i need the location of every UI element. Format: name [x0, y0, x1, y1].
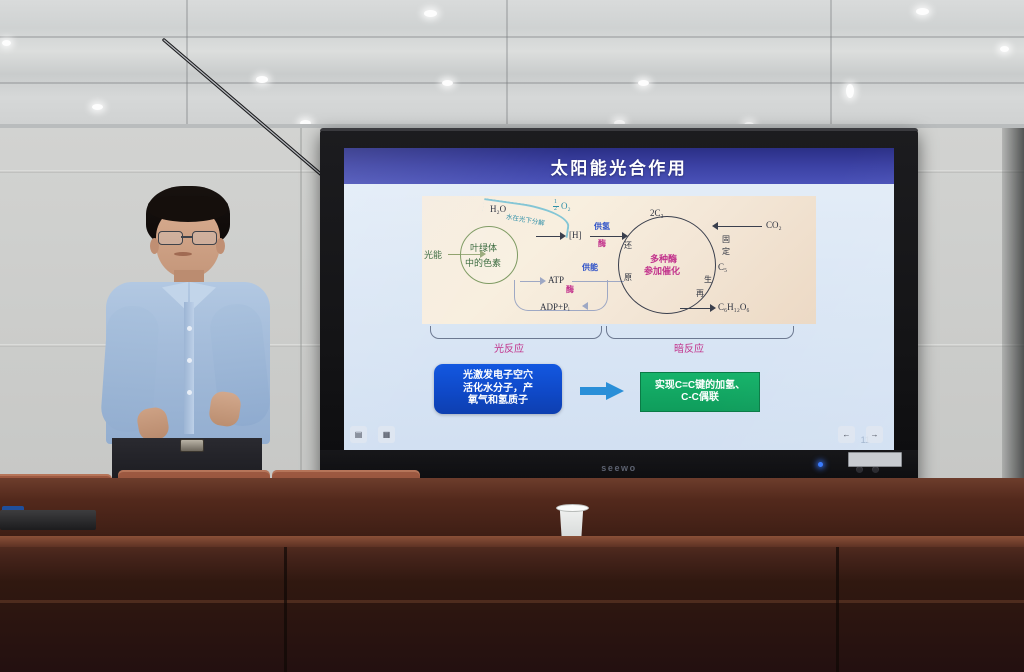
shirt-button	[187, 358, 192, 363]
brace-dark-reaction	[606, 326, 794, 339]
panel-screen[interactable]: 太阳能光合作用 光能 叶绿体 中的色素 H₂O 水在光下分解 1	[344, 148, 894, 450]
ceiling-seam	[0, 82, 1024, 84]
podium-lip	[0, 536, 1024, 547]
callout-blue-line-2: 活化水分子，产	[463, 383, 533, 396]
presenter-hair-front	[148, 196, 228, 222]
paper-cup-rim	[556, 504, 589, 512]
label-co2: CO₂	[766, 220, 782, 230]
downlight	[638, 80, 649, 86]
label-pigment-line2: 中的色素	[465, 256, 501, 269]
label-adp: ADP+Pᵢ	[540, 302, 570, 312]
label-regen-1: 生	[704, 274, 712, 285]
prev-page-button[interactable]: ←	[838, 426, 855, 443]
callout-blue-line-1: 光激发电子空穴	[463, 370, 533, 383]
label-glucose: C₆H₁₂O₆	[718, 302, 750, 312]
callout-green-line-1: 实现C=C键的加氢、	[655, 380, 745, 393]
arrowhead	[560, 232, 566, 240]
arrow-to-h	[536, 236, 562, 237]
glasses-lens	[158, 231, 183, 245]
front-table	[0, 478, 1024, 540]
menu-button[interactable]: ▦	[378, 426, 395, 443]
label-oxygen-frac-num: 1	[554, 199, 557, 205]
arrow-left-icon: ←	[843, 431, 851, 439]
arrowhead	[710, 304, 716, 312]
arrow-right-icon: →	[871, 431, 879, 439]
callout-blue-box: 光激发电子空穴 活化水分子，产 氧气和氢质子	[434, 364, 562, 414]
right-arrow-icon	[580, 382, 624, 400]
control-button[interactable]	[872, 466, 879, 473]
downlight	[916, 8, 929, 15]
source-button[interactable]: ▤	[350, 426, 367, 443]
lecture-room-photo: 太阳能光合作用 光能 叶绿体 中的色素 H₂O 水在光下分解 1	[0, 0, 1024, 672]
podium-panel-seam	[836, 547, 839, 672]
slide: 太阳能光合作用 光能 叶绿体 中的色素 H₂O 水在光下分解 1	[344, 148, 894, 450]
ceiling-seam	[0, 36, 1024, 38]
shirt-placket	[184, 302, 194, 434]
downlight	[846, 84, 854, 98]
label-enzyme-1: 酶	[598, 238, 606, 249]
podium-front	[0, 536, 1024, 672]
downlight	[1000, 46, 1009, 52]
presenter-mouth	[174, 252, 192, 256]
glasses	[158, 231, 218, 244]
wall-panel-seam	[300, 128, 302, 480]
downlight	[256, 76, 268, 83]
wall-shadow-right	[1002, 128, 1024, 480]
control-button[interactable]	[856, 466, 863, 473]
belt-buckle	[180, 439, 204, 452]
label-dark-reaction: 暗反应	[674, 340, 704, 355]
podium-panel-seam	[284, 547, 287, 672]
label-fixation-2: 定	[722, 246, 730, 257]
downlight	[2, 40, 11, 46]
ceiling-seam	[186, 0, 188, 128]
brace-light-reaction	[430, 326, 602, 339]
chloroplast-pigment-circle	[460, 226, 518, 284]
next-page-button[interactable]: →	[866, 426, 883, 443]
power-led	[818, 462, 823, 467]
source-icon: ▤	[355, 431, 363, 439]
label-fixation-1: 固	[722, 234, 730, 245]
presenter	[86, 186, 282, 482]
label-light-reaction: 光反应	[494, 340, 524, 355]
arrow-to-glucose	[680, 308, 712, 309]
callout-green-box: 实现C=C键的加氢、 C-C偶联	[640, 372, 760, 412]
label-reduce-2: 原	[624, 272, 632, 283]
slide-title-bar: 太阳能光合作用	[344, 148, 894, 184]
ceiling-seam	[506, 0, 508, 128]
label-reduce-1: 还	[624, 240, 632, 251]
label-light-energy: 光能	[424, 248, 442, 261]
downlight	[442, 80, 453, 86]
label-pigment-line1: 叶绿体	[470, 241, 497, 254]
label-regen-2: 再	[696, 288, 704, 299]
closed-laptop	[0, 510, 96, 530]
label-supply-hydrogen: 供氢	[594, 221, 610, 232]
label-oxygen-frac-den: 2	[554, 206, 557, 212]
label-supply-energy: 供能	[582, 262, 598, 273]
callout-green-line-2: C-C偶联	[681, 392, 719, 405]
arrow-co2-in	[718, 226, 762, 227]
interactive-flat-panel[interactable]: 太阳能光合作用 光能 叶绿体 中的色素 H₂O 水在光下分解 1	[320, 128, 918, 490]
ceiling-seam	[830, 0, 832, 128]
label-multi-enzyme-2: 参加催化	[644, 264, 680, 277]
podium-groove	[0, 600, 1024, 603]
shirt-button	[187, 326, 192, 331]
downlight	[424, 10, 437, 17]
arrowhead	[712, 222, 718, 230]
menu-icon: ▦	[383, 431, 391, 439]
label-oxygen: O₂	[561, 201, 571, 211]
brand-logo: seewo	[601, 463, 637, 473]
glasses-lens	[192, 231, 217, 245]
bezel-highlight	[320, 128, 918, 131]
label-c5: C₅	[718, 262, 727, 272]
label-h-carrier: [H]	[569, 230, 582, 240]
arrowhead	[582, 302, 588, 310]
shirt-button	[187, 390, 192, 395]
slide-title: 太阳能光合作用	[551, 154, 688, 179]
photosynthesis-diagram: 光能 叶绿体 中的色素 H₂O 水在光下分解 1 2 O₂	[422, 196, 816, 324]
downlight	[92, 104, 103, 110]
callout-blue-line-3: 氧气和氢质子	[468, 395, 528, 408]
label-2c3: 2C₃	[650, 208, 664, 218]
arrow-h-to-calvin	[590, 236, 624, 237]
ceiling	[0, 0, 1024, 128]
spec-sticker	[848, 452, 902, 467]
glasses-bridge	[181, 236, 192, 238]
